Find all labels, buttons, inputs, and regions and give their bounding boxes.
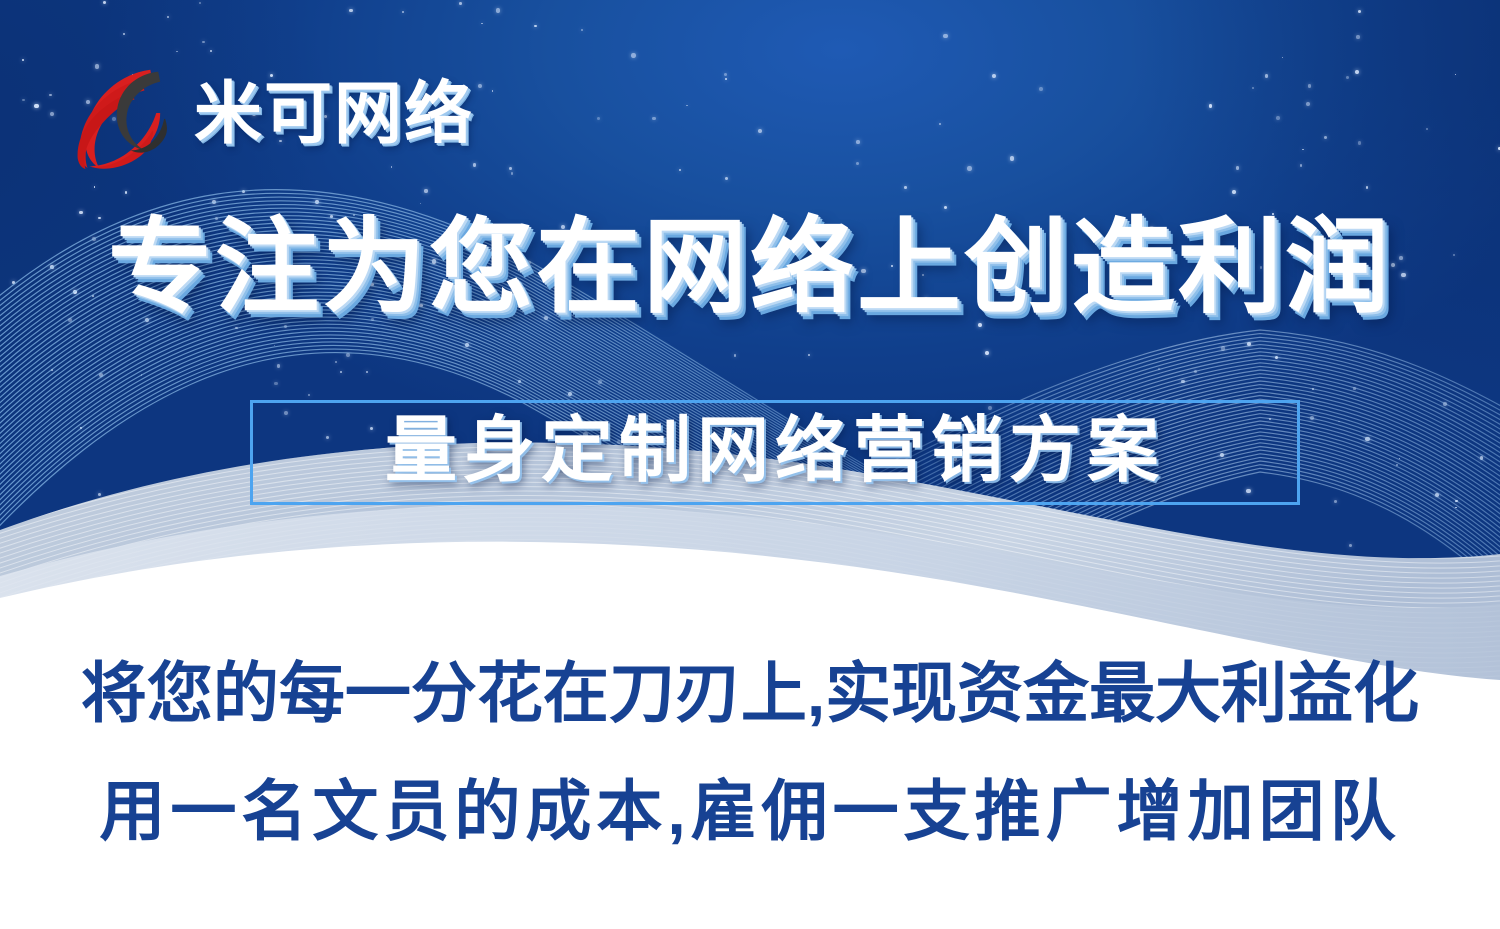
swirl-logo-icon xyxy=(56,58,174,170)
marketing-banner: 米可网络 专注为您在网络上创造利润 量身定制网络营销方案 将您的每一分花在刀刃上… xyxy=(0,0,1500,929)
tagline-2: 用一名文员的成本,雇佣一支推广增加团队 xyxy=(0,778,1500,844)
hero-subtitle-box: 量身定制网络营销方案 xyxy=(250,400,1300,505)
hero-subtitle: 量身定制网络营销方案 xyxy=(385,415,1165,487)
tagline-group: 将您的每一分花在刀刃上,实现资金最大利益化 用一名文员的成本,雇佣一支推广增加团… xyxy=(0,660,1500,844)
hero-headline: 专注为您在网络上创造利润 xyxy=(0,212,1500,324)
brand-name: 米可网络 xyxy=(194,80,474,148)
tagline-1: 将您的每一分花在刀刃上,实现资金最大利益化 xyxy=(0,660,1500,726)
brand-logo[interactable]: 米可网络 xyxy=(56,58,474,170)
